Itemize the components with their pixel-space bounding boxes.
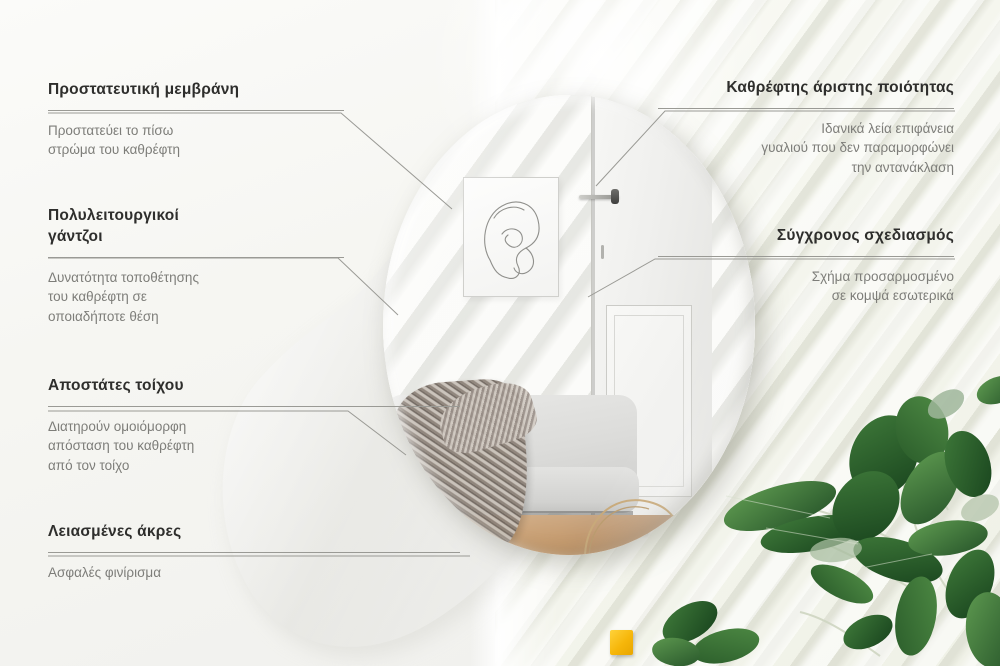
door-keyhole-icon: [601, 245, 604, 259]
callout-description: Δυνατότητα τοποθέτησης του καθρέφτη σε ο…: [48, 268, 344, 327]
callout-smoothed-edges: Λειασμένες άκρες Ασφαλές φινίρισμα: [48, 522, 460, 582]
door-knob-icon: [611, 189, 619, 204]
callout-rule: [658, 256, 954, 257]
callout-description: Ιδανικά λεία επιφάνεια γυαλιού που δεν π…: [658, 119, 954, 178]
callout-description: Σχήμα προσαρμοσμένο σε κομψά εσωτερικά: [658, 267, 954, 306]
callout-rule: [48, 257, 344, 258]
callout-title: Σύγχρονος σχεδιασμός: [658, 226, 954, 247]
callout-description: Ασφαλές φινίρισμα: [48, 563, 460, 583]
callout-protective-membrane: Προστατευτική μεμβράνη Προστατεύει το πί…: [48, 80, 344, 160]
callout-rule: [48, 110, 344, 111]
infographic-canvas: Προστατευτική μεμβράνη Προστατεύει το πί…: [0, 0, 1000, 666]
callout-modern-design: Σύγχρονος σχεδιασμός Σχήμα προσαρμοσμένο…: [658, 226, 954, 306]
reflected-poster: [463, 177, 559, 297]
callout-title: Πολυλειτουργικοί γάντζοι: [48, 206, 344, 248]
callout-rule: [48, 552, 460, 553]
callout-title: Αποστάτες τοίχου: [48, 376, 460, 397]
callout-title: Καθρέφτης άριστης ποιότητας: [658, 78, 954, 99]
callout-rule: [48, 406, 460, 407]
callout-top-quality-mirror: Καθρέφτης άριστης ποιότητας Ιδανικά λεία…: [658, 78, 954, 178]
callout-wall-spacers: Αποστάτες τοίχου Διατηρούν ομοιόμορφη απ…: [48, 376, 460, 476]
arc-floor-lamp-icon: [579, 477, 689, 555]
callout-description: Προστατεύει το πίσω στρώμα του καθρέφτη: [48, 121, 344, 160]
callout-title: Λειασμένες άκρες: [48, 522, 460, 543]
callout-rule: [658, 108, 954, 109]
line-art-face-icon: [464, 178, 558, 296]
callout-description: Διατηρούν ομοιόμορφη απόσταση του καθρέφ…: [48, 417, 460, 476]
callout-title: Προστατευτική μεμβράνη: [48, 80, 344, 101]
yellow-wall-spacer: [610, 630, 633, 655]
callout-multifunctional-hooks: Πολυλειτουργικοί γάντζοι Δυνατότητα τοπο…: [48, 206, 344, 327]
